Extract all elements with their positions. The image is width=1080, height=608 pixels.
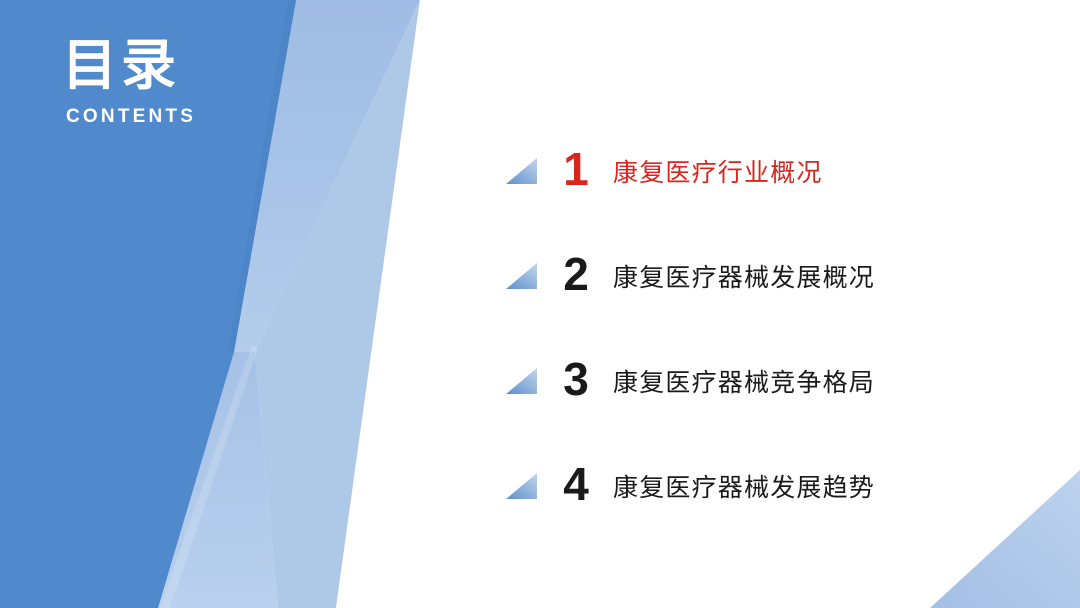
- toc-label: 康复医疗器械发展趋势: [613, 468, 1046, 504]
- contents-slide: 目录 CONTENTS 1 康复医疗行业概况 2 康复医疗器械发展概况 3 康复…: [0, 0, 1080, 608]
- toc-number: 2: [539, 251, 613, 297]
- toc-number: 1: [539, 146, 613, 192]
- triangle-marker-icon: [506, 158, 537, 184]
- triangle-marker-icon: [506, 263, 537, 289]
- toc-label: 康复医疗器械发展概况: [613, 258, 1046, 294]
- contents-list: 1 康复医疗行业概况 2 康复医疗器械发展概况 3 康复医疗器械竞争格局 4 康…: [506, 118, 1046, 538]
- toc-number: 4: [539, 461, 613, 507]
- triangle-marker-icon: [506, 368, 537, 394]
- toc-item-2[interactable]: 2 康复医疗器械发展概况: [506, 223, 1046, 328]
- toc-item-3[interactable]: 3 康复医疗器械竞争格局: [506, 328, 1046, 433]
- toc-item-4[interactable]: 4 康复医疗器械发展趋势: [506, 433, 1046, 538]
- toc-item-1[interactable]: 1 康复医疗行业概况: [506, 118, 1046, 223]
- triangle-marker-icon: [506, 473, 537, 499]
- toc-number: 3: [539, 356, 613, 402]
- toc-label: 康复医疗器械竞争格局: [613, 363, 1046, 399]
- toc-label: 康复医疗行业概况: [613, 153, 1046, 189]
- title-block: 目录 CONTENTS: [62, 36, 362, 128]
- page-title: 目录: [62, 36, 362, 95]
- page-subtitle: CONTENTS: [66, 106, 362, 128]
